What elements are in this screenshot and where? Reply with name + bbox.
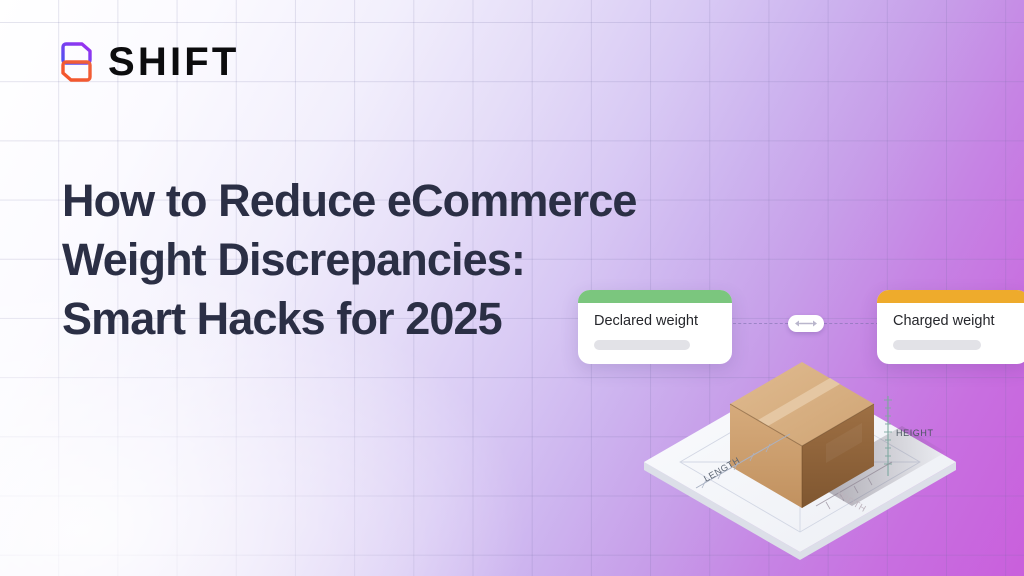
brand-wordmark: SHIFT: [108, 42, 240, 82]
declared-weight-label: Declared weight: [594, 314, 716, 329]
height-label: HEIGHT: [896, 428, 934, 438]
connector-dash-right: [824, 323, 879, 324]
double-arrow-horizontal-icon: [788, 315, 824, 332]
brand-logo[interactable]: SHIFT: [57, 38, 240, 86]
hero-banner: SHIFT How to Reduce eCommerce Weight Dis…: [0, 0, 1024, 576]
headline-line-1: How to Reduce eCommerce: [62, 172, 782, 231]
bshift-logo-mark-icon: [57, 38, 97, 86]
charged-weight-accent-bar: [877, 290, 1024, 303]
declared-weight-accent-bar: [578, 290, 732, 303]
parcel-illustration: HEIGHT LENGTH: [640, 330, 960, 560]
charged-weight-label: Charged weight: [893, 314, 1013, 329]
connector-dash-left: [733, 323, 788, 324]
headline-line-2: Weight Discrepancies:: [62, 231, 782, 290]
